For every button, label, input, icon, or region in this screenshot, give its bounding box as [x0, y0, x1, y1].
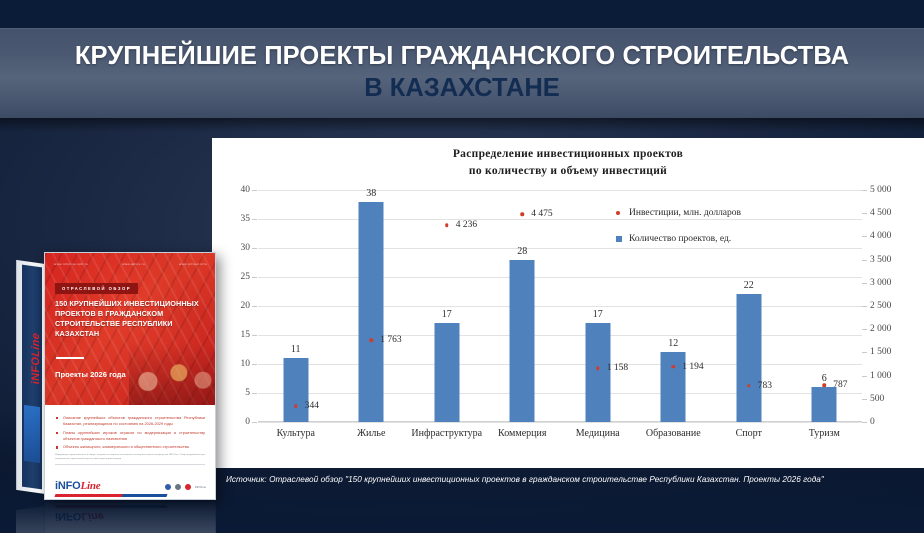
report-cover-3d[interactable]: iNFOLine www.infoline.spb.ru www.advis.r…	[16, 252, 216, 500]
tick-mark-right	[862, 399, 867, 400]
tick-mark-left	[252, 393, 257, 394]
chart-plot-area: 0510152025303540 05001 0001 5002 0002 50…	[258, 190, 862, 422]
bar-group[interactable]: 6787	[787, 190, 863, 422]
y-tick-right: 4 500	[870, 208, 916, 218]
cover-logo: iNFOLine	[55, 480, 100, 492]
tick-mark-right	[862, 376, 867, 377]
category-label: Инфраструктура	[411, 428, 482, 439]
cover-bullet-list: Описание крупнейших объектов гражданског…	[55, 415, 205, 450]
cover-logo-part2: Line	[80, 480, 100, 492]
bar-value-label: 11	[291, 344, 301, 355]
bar-value-label: 22	[744, 280, 754, 291]
bar-value-label: 12	[668, 338, 678, 349]
bar[interactable]	[434, 323, 459, 422]
cover-people-photo	[129, 343, 215, 405]
bar-value-label: 17	[593, 309, 603, 320]
bar[interactable]	[812, 387, 837, 422]
brand-dot-icon	[185, 484, 191, 490]
title-banner: КРУПНЕЙШИЕ ПРОЕКТЫ ГРАЖДАНСКОГО СТРОИТЕЛ…	[0, 28, 924, 118]
category-label: Культура	[277, 428, 315, 439]
tick-mark-left	[252, 364, 257, 365]
spine-logo-part1: iNFO	[30, 356, 42, 385]
tick-mark-right	[862, 329, 867, 330]
bar-group[interactable]: 174 236	[409, 190, 485, 422]
bar-value-label: 28	[517, 246, 527, 257]
cover-bottom-panel: Описание крупнейших объектов гражданског…	[45, 405, 215, 500]
y-tick-left: 10	[218, 359, 250, 369]
cover-title: 150 КРУПНЕЙШИХ ИНВЕСТИЦИОННЫХ ПРОЕКТОВ В…	[55, 299, 206, 339]
investment-value-label: 344	[305, 401, 319, 411]
y-tick-left: 0	[218, 417, 250, 427]
y-tick-left: 40	[218, 185, 250, 195]
y-tick-right: 500	[870, 394, 916, 404]
investment-marker[interactable]	[596, 367, 600, 371]
investment-value-label: 1 763	[380, 335, 401, 345]
cover-urls: www.infoline.spb.ru www.advis.ru www.prf…	[54, 262, 207, 266]
tick-mark-right	[862, 190, 867, 191]
cover-bullet-item: Объекты жилищного, коммерческого и общес…	[55, 444, 205, 450]
legend-square-icon	[616, 236, 622, 242]
circle-icon	[175, 484, 181, 490]
cover-hero-image: www.infoline.spb.ru www.advis.ru www.prf…	[45, 253, 215, 405]
tick-mark-left	[252, 219, 257, 220]
reflection-side	[16, 506, 46, 533]
investment-value-label: 4 236	[456, 220, 477, 230]
chart-card: Распределение инвестиционных проектов по…	[212, 138, 924, 468]
category-label: Спорт	[736, 428, 762, 439]
reflection-front: iNFOLine	[44, 500, 216, 533]
bar-group[interactable]: 11344	[258, 190, 334, 422]
y-tick-right: 2 500	[870, 301, 916, 311]
bar-group[interactable]: 284 475	[485, 190, 561, 422]
cover-logo-underbar	[54, 494, 167, 497]
investment-marker[interactable]	[521, 213, 525, 217]
legend-dot-icon	[616, 211, 620, 215]
y-tick-left: 5	[218, 388, 250, 398]
reflection-bar	[54, 505, 167, 508]
bar[interactable]	[359, 202, 384, 422]
cover-bullet-item: Планы крупнейших игроков отрасли по моде…	[55, 430, 205, 442]
globe-icon	[165, 484, 171, 490]
chart-title: Распределение инвестиционных проектов по…	[212, 138, 924, 179]
bar-value-label: 17	[442, 309, 452, 320]
tick-mark-left	[252, 306, 257, 307]
y-tick-left: 35	[218, 214, 250, 224]
cover-divider-2	[55, 464, 205, 465]
cover-url-3: www.prfood.info	[179, 262, 207, 266]
banner-title-line1: КРУПНЕЙШИЕ ПРОЕКТЫ ГРАЖДАНСКОГО СТРОИТЕЛ…	[75, 43, 849, 70]
bar-value-label: 38	[366, 188, 376, 199]
category-label: Образование	[646, 428, 701, 439]
spine-accent-bar	[24, 405, 40, 463]
reflection-logo-part2: Line	[81, 510, 104, 522]
y-tick-right: 4 000	[870, 231, 916, 241]
tick-mark-right	[862, 260, 867, 261]
investment-marker[interactable]	[445, 224, 449, 228]
bar[interactable]	[510, 260, 535, 422]
tick-mark-left	[252, 335, 257, 336]
slide-canvas: КРУПНЕЙШИЕ ПРОЕКТЫ ГРАЖДАНСКОГО СТРОИТЕЛ…	[0, 0, 924, 533]
investment-value-label: 4 475	[531, 209, 552, 219]
investment-marker[interactable]	[672, 365, 676, 369]
y-tick-right: 1 000	[870, 371, 916, 381]
category-label: Жилье	[357, 428, 385, 439]
reflection-logo-part1: iNFO	[55, 510, 81, 522]
cover-subtitle: Проекты 2026 года	[55, 370, 126, 379]
cover-icons-text: INFOLine	[195, 486, 206, 489]
y-tick-left: 15	[218, 330, 250, 340]
investment-marker[interactable]	[823, 384, 827, 388]
spine-logo: iNFOLine	[30, 310, 42, 408]
category-label: Медицина	[576, 428, 620, 439]
cover-logo-part1: iNFO	[55, 480, 80, 492]
cover-url-2: www.advis.ru	[122, 262, 145, 266]
investment-marker[interactable]	[294, 404, 298, 408]
tick-mark-left	[252, 190, 257, 191]
book-front-cover: www.infoline.spb.ru www.advis.ru www.prf…	[44, 252, 216, 500]
investment-value-label: 787	[833, 380, 847, 390]
y-tick-right: 0	[870, 417, 916, 427]
bar[interactable]	[736, 294, 761, 422]
banner-shadow	[0, 118, 924, 132]
investment-value-label: 1 194	[682, 362, 703, 372]
gridline	[258, 422, 862, 423]
cover-badge: ОТРАСЛЕВОЙ ОБЗОР	[55, 283, 138, 294]
y-tick-right: 1 500	[870, 347, 916, 357]
y-tick-right: 2 000	[870, 324, 916, 334]
investment-value-label: 1 158	[607, 363, 628, 373]
y-tick-left: 20	[218, 301, 250, 311]
legend-label-investments: Инвестиции, млн. долларов	[629, 208, 741, 218]
cover-partner-icons: INFOLine	[165, 484, 206, 490]
tick-mark-right	[862, 306, 867, 307]
y-tick-right: 5 000	[870, 185, 916, 195]
y-tick-left: 30	[218, 243, 250, 253]
tick-mark-right	[862, 283, 867, 284]
tick-mark-left	[252, 277, 257, 278]
legend-item-projects[interactable]: Количество проектов, ед.	[616, 226, 741, 252]
investment-marker[interactable]	[747, 384, 751, 388]
legend-label-projects: Количество проектов, ед.	[629, 234, 731, 244]
book-spine: iNFOLine	[22, 265, 42, 490]
tick-mark-right	[862, 213, 867, 214]
cover-divider	[56, 357, 84, 359]
tick-mark-right	[862, 236, 867, 237]
reflection-logo: iNFOLine	[55, 510, 104, 522]
bar-value-label: 6	[822, 373, 827, 384]
tick-mark-right	[862, 422, 867, 423]
category-label: Туризм	[809, 428, 840, 439]
chart-legend: Инвестиции, млн. долларов Количество про…	[616, 200, 741, 252]
tick-mark-right	[862, 352, 867, 353]
y-tick-right: 3 000	[870, 278, 916, 288]
cover-bullet-item: Описание крупнейших объектов гражданског…	[55, 415, 205, 427]
investment-value-label: 783	[758, 381, 772, 391]
legend-item-investments[interactable]: Инвестиции, млн. долларов	[616, 200, 741, 226]
chart-title-line2: по количеству и объему инвестиций	[212, 163, 924, 180]
report-cover-reflection: iNFOLine	[16, 500, 216, 533]
source-bar: Источник: Отраслевой обзор "150 крупнейш…	[212, 468, 924, 490]
cover-fineprint: Информация, представленная в обзоре, пол…	[55, 454, 205, 461]
tick-mark-left	[252, 248, 257, 249]
y-tick-right: 3 500	[870, 255, 916, 265]
source-text: Источник: Отраслевой обзор "150 крупнейш…	[212, 475, 824, 484]
bar-group[interactable]: 381 763	[334, 190, 410, 422]
y-tick-left: 25	[218, 272, 250, 282]
investment-marker[interactable]	[370, 338, 374, 342]
chart-title-line1: Распределение инвестиционных проектов	[212, 146, 924, 163]
banner-title-line2: В КАЗАХСТАНЕ	[364, 73, 560, 104]
tick-mark-left	[252, 422, 257, 423]
top-strip	[0, 0, 924, 28]
bar[interactable]	[283, 358, 308, 422]
cover-url-1: www.infoline.spb.ru	[54, 262, 88, 266]
spine-logo-part2: Line	[30, 332, 42, 357]
category-label: Коммерция	[498, 428, 546, 439]
